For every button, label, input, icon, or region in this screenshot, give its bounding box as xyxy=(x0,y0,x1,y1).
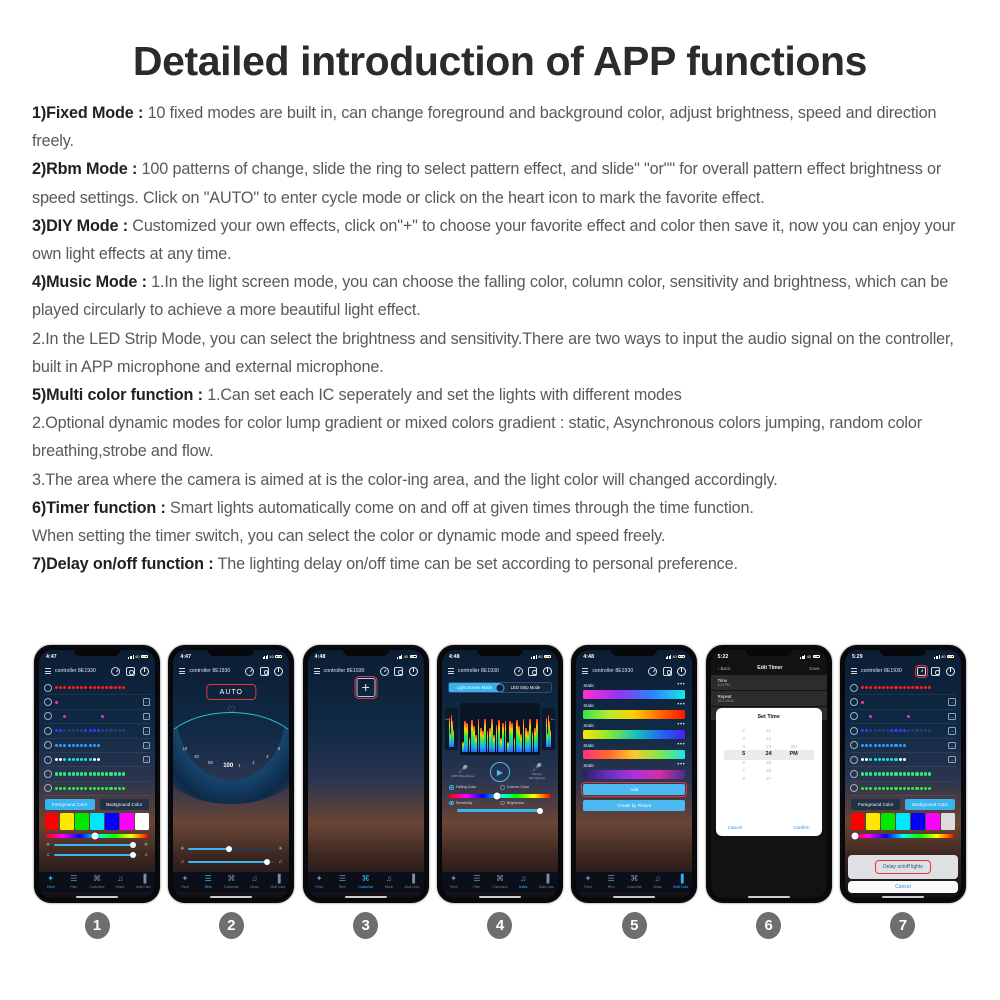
mode-row[interactable] xyxy=(44,767,150,781)
tab-fixed[interactable]: ✦Fixed xyxy=(576,872,599,892)
led-dot-strip xyxy=(861,784,946,792)
mode-row[interactable]: → xyxy=(44,724,150,738)
home-indicator xyxy=(748,896,790,898)
tab-customize[interactable]: ⌘Customize xyxy=(488,872,511,892)
picker-hour[interactable]: 2 xyxy=(738,728,750,733)
phone-screen: 5:2940controller 8E1930→→→→→Foreground C… xyxy=(845,650,961,898)
picker-row[interactable]: 221 xyxy=(716,726,822,734)
color-swatch[interactable] xyxy=(60,813,73,830)
paragraph-10: When setting the timer switch, you can s… xyxy=(32,522,968,550)
delay-on-off-button[interactable]: Delay on/off lights xyxy=(877,862,929,872)
menu-line xyxy=(448,671,454,672)
option-column-color[interactable]: Column Color xyxy=(500,785,551,790)
action-sheet-cancel[interactable]: Cancel xyxy=(848,881,958,893)
led-dot xyxy=(105,715,108,718)
tab-rbm[interactable]: ☰Rbm xyxy=(600,872,623,892)
play-button[interactable]: ▶ xyxy=(490,762,510,782)
chevron-right-icon: › xyxy=(818,680,820,685)
brightness-slider-knob[interactable] xyxy=(226,846,232,852)
color-swatch[interactable] xyxy=(135,813,148,830)
dial-number[interactable]: 50 xyxy=(208,760,213,765)
multicolor-gradient-bar[interactable] xyxy=(583,710,685,720)
row-arrow-icon[interactable]: → xyxy=(143,727,151,735)
picker-hour[interactable]: 8 xyxy=(738,776,750,781)
phone-frame: 4:4840controller 8E1930+✦Fixed☰Rbm⌘Custo… xyxy=(303,645,429,903)
tab-multi-color[interactable]: ▐Multi Color xyxy=(400,872,423,892)
mode-row[interactable]: → xyxy=(44,710,150,724)
light-screen-mode-segment[interactable]: Light Screen Mode xyxy=(449,683,500,692)
mode-row[interactable]: → xyxy=(44,695,150,709)
tab-music[interactable]: ♫Music xyxy=(512,872,535,892)
phone-screenshots-row: 4:4740controller 8E1930→→→→→Foreground C… xyxy=(0,645,1000,915)
background-color-tab[interactable]: Background Color xyxy=(100,799,150,810)
alarm-icon[interactable] xyxy=(394,667,403,676)
led-dot xyxy=(886,729,889,732)
picker-meridiem[interactable]: AM xyxy=(788,744,800,749)
mode-row[interactable]: → xyxy=(850,753,956,767)
tab-label: Rbm xyxy=(70,885,77,889)
picker-minute[interactable]: 24 xyxy=(763,751,775,757)
power-icon[interactable] xyxy=(409,667,418,676)
led-dot xyxy=(894,729,897,732)
speed-slider-track[interactable] xyxy=(54,854,140,857)
spectrum-bar xyxy=(466,723,468,752)
power-icon[interactable] xyxy=(543,667,552,676)
picker-hour[interactable]: 4 xyxy=(738,744,750,749)
device-microphone-option[interactable]: 🎤Device Microphone xyxy=(524,764,550,780)
option-sensitivity[interactable]: Sensitivity xyxy=(449,801,500,806)
row-arrow-icon[interactable]: → xyxy=(948,756,956,764)
cancel-button[interactable]: Cancel xyxy=(728,825,742,830)
brightness-slider-track[interactable] xyxy=(188,848,274,851)
add-effect-button[interactable]: + xyxy=(356,678,375,697)
led-dot xyxy=(861,686,864,689)
dial-number[interactable]: 5 xyxy=(278,746,280,751)
tab-label: Fixed xyxy=(181,885,189,889)
multicolor-gradient-bar[interactable] xyxy=(583,770,685,780)
led-dot xyxy=(924,758,927,761)
timer-row-subtitle: 5:24 PM xyxy=(718,683,730,687)
tab-customize[interactable]: ⌘Customize xyxy=(354,872,377,892)
led-dot xyxy=(874,729,877,732)
led-dot xyxy=(882,758,885,761)
radio-icon[interactable] xyxy=(500,785,505,790)
led-strip-mode-segment[interactable]: LED Strip Mode xyxy=(500,683,551,692)
tab-customize[interactable]: ⌘Customize xyxy=(220,872,243,892)
color-swatch[interactable] xyxy=(45,813,58,830)
led-dot xyxy=(911,787,914,790)
paragraph-1: 1)Fixed Mode : 10 fixed modes are built … xyxy=(32,99,968,155)
signal-bar xyxy=(267,655,268,659)
mode-row[interactable] xyxy=(850,767,956,781)
paragraph-6: 5)Multi color function : 1.Can set each … xyxy=(32,381,968,409)
tab-rbm[interactable]: ☰Rbm xyxy=(197,872,220,892)
menu-icon[interactable] xyxy=(314,668,320,674)
led-dot xyxy=(899,772,902,775)
option-falling-color[interactable]: Falling Color xyxy=(449,785,500,790)
row-arrow-icon[interactable]: → xyxy=(143,713,151,721)
picker-hour[interactable]: 3 xyxy=(738,736,750,741)
picker-row[interactable]: 423AM xyxy=(716,742,822,750)
power-icon[interactable] xyxy=(946,667,955,676)
mode-row[interactable]: → xyxy=(44,739,150,753)
led-dot xyxy=(59,715,62,718)
led-dot xyxy=(894,787,897,790)
color-swatch[interactable] xyxy=(926,813,939,830)
led-dot xyxy=(68,758,71,761)
speed-slider-knob[interactable] xyxy=(130,852,136,858)
tab-label: Music xyxy=(250,885,258,889)
color-swatch[interactable] xyxy=(881,813,894,830)
body-copy: 1)Fixed Mode : 10 fixed modes are built … xyxy=(0,85,1000,578)
radio-icon[interactable] xyxy=(449,801,454,806)
phone-screen: 4:4740controller 8E1930→→→→→Foreground C… xyxy=(39,650,155,898)
status-time: 5:29 xyxy=(852,654,863,660)
menu-line xyxy=(582,673,588,674)
power-icon[interactable] xyxy=(140,667,149,676)
led-dot xyxy=(920,701,923,704)
tab-multi-color[interactable]: ▐Multi Color xyxy=(132,872,155,892)
led-dot xyxy=(865,772,868,775)
create-by-picture-button[interactable]: Create by Picture xyxy=(583,800,685,811)
picker-hour[interactable]: 5 xyxy=(738,751,750,757)
time-picker[interactable]: 221322423AM524PM625726827 xyxy=(716,726,822,782)
spectrum-bar xyxy=(511,723,513,752)
tab-multi-color[interactable]: ▐Multi Color xyxy=(266,872,289,892)
led-dot xyxy=(105,729,108,732)
back-button[interactable]: ‹ Back xyxy=(718,666,731,671)
color-option-row: Falling ColorColumn Color xyxy=(442,782,558,790)
led-dot xyxy=(882,787,885,790)
timer-icon[interactable] xyxy=(514,667,523,676)
tab-music[interactable]: ♫Music xyxy=(377,872,400,892)
tab-customize[interactable]: ⌘Customize xyxy=(85,872,108,892)
led-dot xyxy=(878,715,881,718)
dial-number[interactable]: 10 xyxy=(183,746,188,751)
bars-icon: ▐ xyxy=(409,875,415,884)
spectrum-bar xyxy=(520,734,522,752)
led-dot xyxy=(59,686,62,689)
tab-customize[interactable]: ⌘Customize xyxy=(623,872,646,892)
sensitivity-slider-track[interactable] xyxy=(457,809,543,812)
timer-icon[interactable] xyxy=(917,667,926,676)
shuffle-icon: ⌘ xyxy=(496,875,504,884)
led-dot xyxy=(924,729,927,732)
mode-row[interactable] xyxy=(44,782,150,796)
led-dot xyxy=(72,701,75,704)
led-dot xyxy=(886,744,889,747)
led-dot xyxy=(68,787,71,790)
led-dot xyxy=(920,758,923,761)
timer-list-row[interactable]: Repeat2021-06-30› xyxy=(711,691,827,706)
app-header: controller 8E1930 xyxy=(576,663,692,679)
led-dot xyxy=(105,701,108,704)
more-options-icon[interactable]: ••• xyxy=(677,764,685,767)
led-dot xyxy=(861,787,864,790)
background-color-tab[interactable]: Background Color xyxy=(905,799,955,810)
tab-rbm[interactable]: ☰Rbm xyxy=(62,872,85,892)
menu-line xyxy=(314,673,320,674)
picker-row[interactable]: 625 xyxy=(716,758,822,766)
color-swatch-row xyxy=(845,810,961,830)
color-swatch[interactable] xyxy=(120,813,133,830)
mode-row[interactable]: → xyxy=(850,724,956,738)
brightness-slider-right-icon: ☀ xyxy=(277,846,283,852)
mode-cloud-icon xyxy=(44,712,52,720)
alarm-icon[interactable] xyxy=(931,667,940,676)
picker-minute[interactable]: 22 xyxy=(763,736,775,741)
row-arrow-icon[interactable]: → xyxy=(948,742,956,750)
tab-fixed[interactable]: ✦Fixed xyxy=(173,872,196,892)
row-arrow-icon[interactable]: → xyxy=(143,756,151,764)
playback-row: 🎤APP Microphone▶🎤Device Microphone xyxy=(442,755,558,782)
tab-rbm[interactable]: ☰Rbm xyxy=(331,872,354,892)
more-options-icon[interactable]: ••• xyxy=(677,724,685,727)
speed-slider-left-icon: ♫ xyxy=(179,859,185,865)
tab-fixed[interactable]: ✦Fixed xyxy=(39,872,62,892)
pattern-ring-line xyxy=(173,712,289,804)
paragraph-8: 3.The area where the camera is aimed at … xyxy=(32,466,968,494)
timer-icon[interactable] xyxy=(380,667,389,676)
led-dot xyxy=(920,772,923,775)
tab-music[interactable]: ♫Music xyxy=(109,872,132,892)
led-dot-strip xyxy=(55,741,140,749)
multicolor-gradient-bar[interactable] xyxy=(583,750,685,760)
tab-fixed[interactable]: ✦Fixed xyxy=(442,872,465,892)
tab-fixed[interactable]: ✦Fixed xyxy=(308,872,331,892)
dial-number[interactable]: 3 xyxy=(266,754,268,759)
multicolor-gradient-bar[interactable] xyxy=(583,730,685,740)
menu-icon[interactable] xyxy=(582,668,588,674)
picker-hour[interactable]: 7 xyxy=(738,768,750,773)
number-cell: 4 xyxy=(437,912,563,962)
led-dot xyxy=(878,744,881,747)
paragraph-lead: 4)Music Mode : xyxy=(32,273,147,291)
power-icon[interactable] xyxy=(274,667,283,676)
speed-slider-track[interactable] xyxy=(188,861,274,864)
shuffle-icon: ⌘ xyxy=(630,875,638,884)
document-icon: ☰ xyxy=(608,875,615,884)
dial-number[interactable]: 1 xyxy=(252,760,254,765)
mode-row[interactable]: → xyxy=(850,695,956,709)
led-dot xyxy=(907,701,910,704)
auto-button[interactable]: AUTO xyxy=(209,686,254,698)
mode-row[interactable]: → xyxy=(850,739,956,753)
segment-knob-icon[interactable] xyxy=(495,683,504,692)
alarm-icon[interactable] xyxy=(126,667,135,676)
picker-row[interactable]: 524PM xyxy=(716,750,822,758)
device-microphone-label: Device Microphone xyxy=(524,773,550,780)
number-cell: 5 xyxy=(571,912,697,962)
led-dot xyxy=(878,701,881,704)
led-dot xyxy=(101,758,104,761)
led-dot xyxy=(84,701,87,704)
led-dot xyxy=(109,729,112,732)
option-brightness[interactable]: Brightness xyxy=(500,801,551,806)
tab-rbm[interactable]: ☰Rbm xyxy=(465,872,488,892)
picker-hour[interactable]: 6 xyxy=(738,760,750,765)
dial-number[interactable]: 1 xyxy=(238,763,240,768)
sensitivity-option-row: SensitivityBrightness xyxy=(442,798,558,806)
timer-row-title: Time xyxy=(718,678,730,683)
mode-row-list: →→→→→ xyxy=(845,679,961,796)
led-dot xyxy=(63,715,66,718)
menu-line xyxy=(179,673,185,674)
paragraph-7: 2.Optional dynamic modes for color lump … xyxy=(32,409,968,465)
hue-slider-knob[interactable] xyxy=(852,832,859,839)
tab-multi-color[interactable]: ▐Multi Color xyxy=(669,872,692,892)
timer-icon[interactable] xyxy=(111,667,120,676)
mode-cloud-icon xyxy=(850,770,858,778)
picker-row[interactable]: 322 xyxy=(716,734,822,742)
hue-slider[interactable] xyxy=(852,834,954,838)
color-swatch[interactable] xyxy=(866,813,879,830)
more-options-icon[interactable]: ••• xyxy=(677,744,685,747)
number-cell: 6 xyxy=(706,912,832,962)
led-dot-strip xyxy=(55,770,140,778)
more-options-icon[interactable]: ••• xyxy=(677,684,685,687)
timer-nav-bar: ‹ BackEdit TimerSave xyxy=(711,663,827,675)
timer-icon[interactable] xyxy=(245,667,254,676)
picker-minute[interactable]: 23 xyxy=(763,744,775,749)
tab-label: Multi Color xyxy=(136,885,151,889)
confirm-button[interactable]: Confirm xyxy=(794,825,810,830)
led-dot-strip xyxy=(55,756,140,764)
mode-row[interactable]: → xyxy=(44,753,150,767)
battery-icon xyxy=(813,655,820,659)
home-indicator xyxy=(210,896,252,898)
color-swatch[interactable] xyxy=(851,813,864,830)
phone-frame: 5:2240‹ BackEdit TimerSaveTime5:24 PM›Re… xyxy=(706,645,832,903)
picker-meridiem[interactable]: PM xyxy=(788,751,800,757)
row-arrow-icon[interactable]: → xyxy=(143,742,151,750)
timer-list-row[interactable]: Time5:24 PM› xyxy=(711,675,827,690)
battery-icon xyxy=(947,655,954,659)
multicolor-block-header: Static••• xyxy=(583,683,685,688)
mode-row[interactable]: → xyxy=(850,710,956,724)
timer-icon[interactable] xyxy=(648,667,657,676)
menu-icon[interactable] xyxy=(448,668,454,674)
dial-number[interactable]: 40 xyxy=(194,754,199,759)
row-arrow-icon[interactable]: → xyxy=(948,698,956,706)
paragraph-11: 7)Delay on/off function : The lighting d… xyxy=(32,550,968,578)
led-dot xyxy=(903,729,906,732)
radio-icon[interactable] xyxy=(500,801,505,806)
multicolor-mode-label: Static xyxy=(583,763,594,768)
led-dot xyxy=(84,744,87,747)
radio-icon[interactable] xyxy=(449,785,454,790)
led-dot xyxy=(915,744,918,747)
picker-minute[interactable]: 26 xyxy=(763,768,775,773)
multicolor-block-header: Static••• xyxy=(583,743,685,748)
sensitivity-slider-knob[interactable] xyxy=(537,808,543,814)
signal-bar xyxy=(670,655,671,659)
led-dot xyxy=(55,758,58,761)
alarm-icon[interactable] xyxy=(528,667,537,676)
prev-arrow-icon[interactable]: → xyxy=(444,716,450,722)
multicolor-gradient-bar[interactable] xyxy=(583,690,685,700)
color-swatch[interactable] xyxy=(90,813,103,830)
power-icon[interactable] xyxy=(677,667,686,676)
tab-music[interactable]: ♫Music xyxy=(243,872,266,892)
brightness-slider: ☀☀ xyxy=(173,842,289,852)
picker-row[interactable]: 726 xyxy=(716,766,822,774)
next-arrow-icon[interactable]: ← xyxy=(550,716,556,722)
color-swatch[interactable] xyxy=(75,813,88,830)
led-dot xyxy=(890,758,893,761)
timer-row-title: Repeat xyxy=(718,694,734,699)
menu-icon[interactable] xyxy=(179,668,185,674)
led-dot xyxy=(118,715,121,718)
led-dot xyxy=(924,715,927,718)
led-dot xyxy=(114,715,117,718)
speed-slider-knob[interactable] xyxy=(264,859,270,865)
app-microphone-option[interactable]: 🎤APP Microphone xyxy=(450,766,476,779)
tab-multi-color[interactable]: ▐Multi Color xyxy=(535,872,558,892)
led-dot xyxy=(865,701,868,704)
color-swatch[interactable] xyxy=(896,813,909,830)
save-button[interactable]: Save xyxy=(809,666,819,671)
led-dot xyxy=(915,758,918,761)
row-arrow-icon[interactable]: → xyxy=(948,727,956,735)
mode-row[interactable] xyxy=(44,681,150,695)
led-dot xyxy=(59,758,62,761)
tab-label: Multi Color xyxy=(673,885,688,889)
mode-row[interactable] xyxy=(850,782,956,796)
more-options-icon[interactable]: ••• xyxy=(677,704,685,707)
foreground-color-tab[interactable]: Foreground Color xyxy=(45,799,95,810)
row-arrow-icon[interactable]: → xyxy=(948,713,956,721)
wifi-icon: 40 xyxy=(269,654,273,659)
led-dot xyxy=(928,744,931,747)
dial-number[interactable]: 100 xyxy=(223,763,233,769)
alarm-icon[interactable] xyxy=(260,667,269,676)
phone-3: 4:4840controller 8E1930+✦Fixed☰Rbm⌘Custo… xyxy=(303,645,429,915)
color-swatch[interactable] xyxy=(941,813,954,830)
tab-label: Rbm xyxy=(339,885,346,889)
tab-label: Multi Color xyxy=(270,885,285,889)
menu-icon[interactable] xyxy=(851,668,857,674)
add-button[interactable]: Add xyxy=(583,784,685,795)
alarm-icon[interactable] xyxy=(663,667,672,676)
status-indicators: 40 xyxy=(263,654,283,659)
color-swatch[interactable] xyxy=(911,813,924,830)
color-swatch[interactable] xyxy=(105,813,118,830)
mode-row[interactable] xyxy=(850,681,956,695)
picker-row[interactable]: 827 xyxy=(716,774,822,782)
row-arrow-icon[interactable]: → xyxy=(143,698,151,706)
tab-music[interactable]: ♫Music xyxy=(646,872,669,892)
multicolor-block: Static••• xyxy=(576,759,692,779)
led-dot xyxy=(865,744,868,747)
picker-minute[interactable]: 27 xyxy=(763,776,775,781)
brightness-slider-track[interactable] xyxy=(54,844,140,847)
led-dot xyxy=(890,701,893,704)
led-dot xyxy=(890,744,893,747)
status-indicators: 40 xyxy=(531,654,551,659)
led-dot xyxy=(911,701,914,704)
menu-icon[interactable] xyxy=(45,668,51,674)
led-dot xyxy=(122,758,125,761)
led-dot xyxy=(93,686,96,689)
picker-minute[interactable]: 25 xyxy=(763,760,775,765)
led-dot xyxy=(894,758,897,761)
tab-label: Customize xyxy=(358,885,373,889)
led-dot xyxy=(903,701,906,704)
foreground-color-tab[interactable]: Foreground Color xyxy=(851,799,901,810)
number-cell: 7 xyxy=(840,912,966,962)
picker-minute[interactable]: 21 xyxy=(763,728,775,733)
